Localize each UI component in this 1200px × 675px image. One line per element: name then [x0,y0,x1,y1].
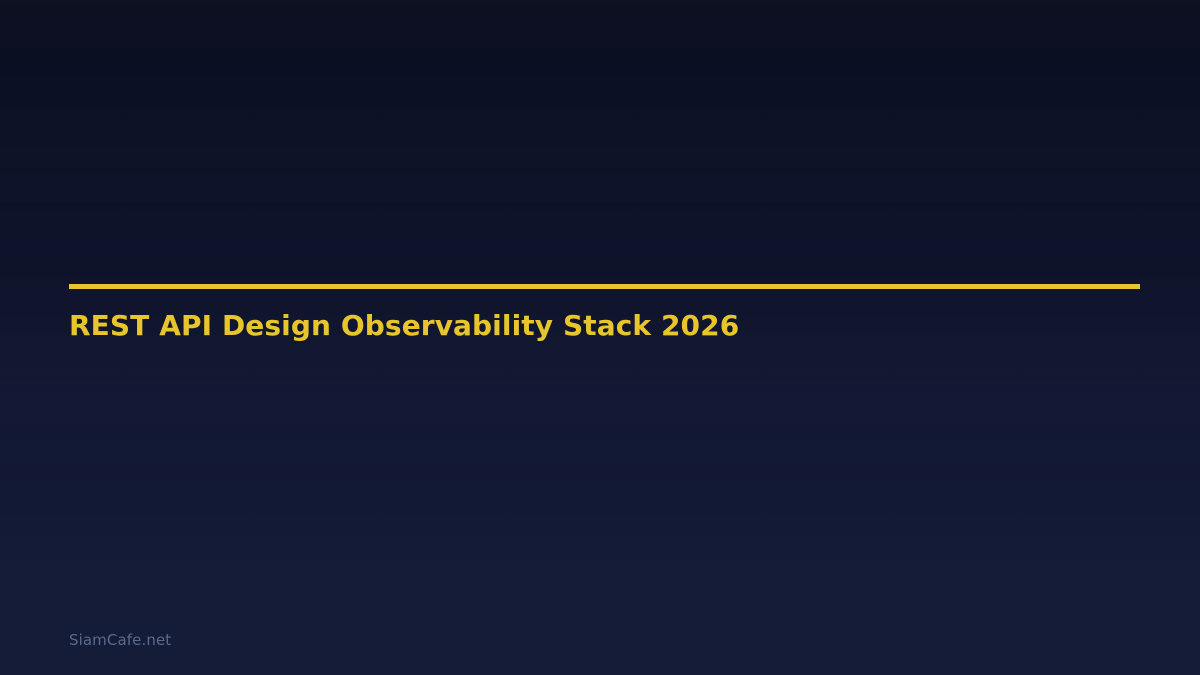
title-block: REST API Design Observability Stack 2026 [69,284,1140,343]
page-title: REST API Design Observability Stack 2026 [69,289,1140,343]
presentation-slide: REST API Design Observability Stack 2026… [0,0,1200,675]
footer-brand: SiamCafe.net [69,630,171,650]
